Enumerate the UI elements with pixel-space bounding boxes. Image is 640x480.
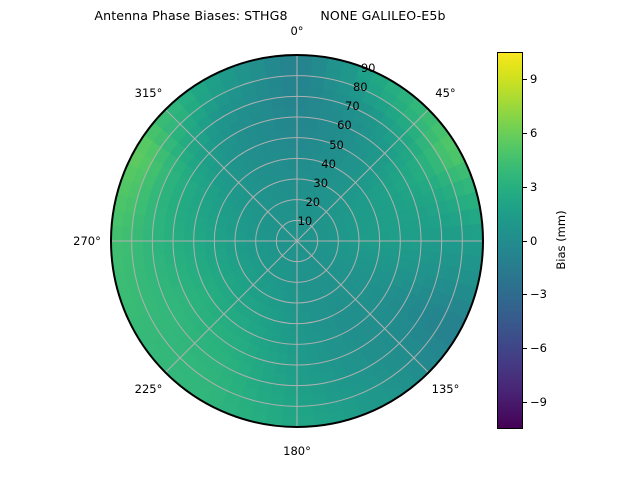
heatmap-cell xyxy=(348,235,360,241)
colorbar-tick-label: 9 xyxy=(530,72,537,86)
colorbar-tick-mark xyxy=(523,348,527,349)
radial-tick-label-50: 50 xyxy=(329,138,344,152)
radial-tick-label-80: 80 xyxy=(353,80,368,94)
radial-tick-label-70: 70 xyxy=(345,99,360,113)
colorbar-tick-mark xyxy=(523,294,527,295)
page-title: Antenna Phase Biases: STHG8 NONE GALILEO… xyxy=(0,8,540,23)
colorbar-gradient xyxy=(497,52,523,429)
radial-tick-label-10: 10 xyxy=(298,214,313,228)
colorbar-tick-mark xyxy=(523,187,527,188)
colorbar-tick-label: −6 xyxy=(530,341,547,355)
colorbar-tick-mark xyxy=(523,79,527,80)
figure-canvas: Antenna Phase Biases: STHG8 NONE GALILEO… xyxy=(0,0,640,480)
heatmap-cell xyxy=(292,189,297,201)
radial-tick-label-40: 40 xyxy=(321,157,336,171)
colorbar-tick-mark xyxy=(523,402,527,403)
radial-tick-label-90: 90 xyxy=(361,61,376,75)
angular-tick-label-0: 0° xyxy=(290,24,303,38)
radial-tick-label-30: 30 xyxy=(313,176,328,190)
colorbar-tick-label: 0 xyxy=(530,234,537,248)
angular-tick-label-180: 180° xyxy=(283,444,311,458)
angular-tick-label-315: 315° xyxy=(135,86,163,100)
polar-heatmap-svg xyxy=(108,52,486,430)
heatmap-cell xyxy=(291,178,297,190)
colorbar-tick-label: 3 xyxy=(530,180,537,194)
angular-tick-label-225: 225° xyxy=(135,382,163,396)
colorbar-tick-label: 6 xyxy=(530,126,537,140)
colorbar-tick-mark xyxy=(523,241,527,242)
colorbar-axis-label: Bias (mm) xyxy=(554,210,568,269)
polar-plot[interactable]: 102030405060708090 xyxy=(108,52,486,430)
colorbar-tick-label: −3 xyxy=(530,287,547,301)
angular-tick-label-270: 270° xyxy=(73,234,101,248)
heatmap-cell xyxy=(234,241,246,247)
radial-tick-label-20: 20 xyxy=(305,195,320,209)
heatmap-cell xyxy=(297,292,303,304)
polar-grid xyxy=(111,55,483,427)
colorbar[interactable]: 9630−3−6−9 xyxy=(497,52,523,429)
angular-tick-label-45: 45° xyxy=(435,86,455,100)
colorbar-tick-mark xyxy=(523,133,527,134)
colorbar-tick-label: −9 xyxy=(530,395,547,409)
angular-tick-label-135: 135° xyxy=(432,382,460,396)
radial-tick-label-60: 60 xyxy=(337,118,352,132)
